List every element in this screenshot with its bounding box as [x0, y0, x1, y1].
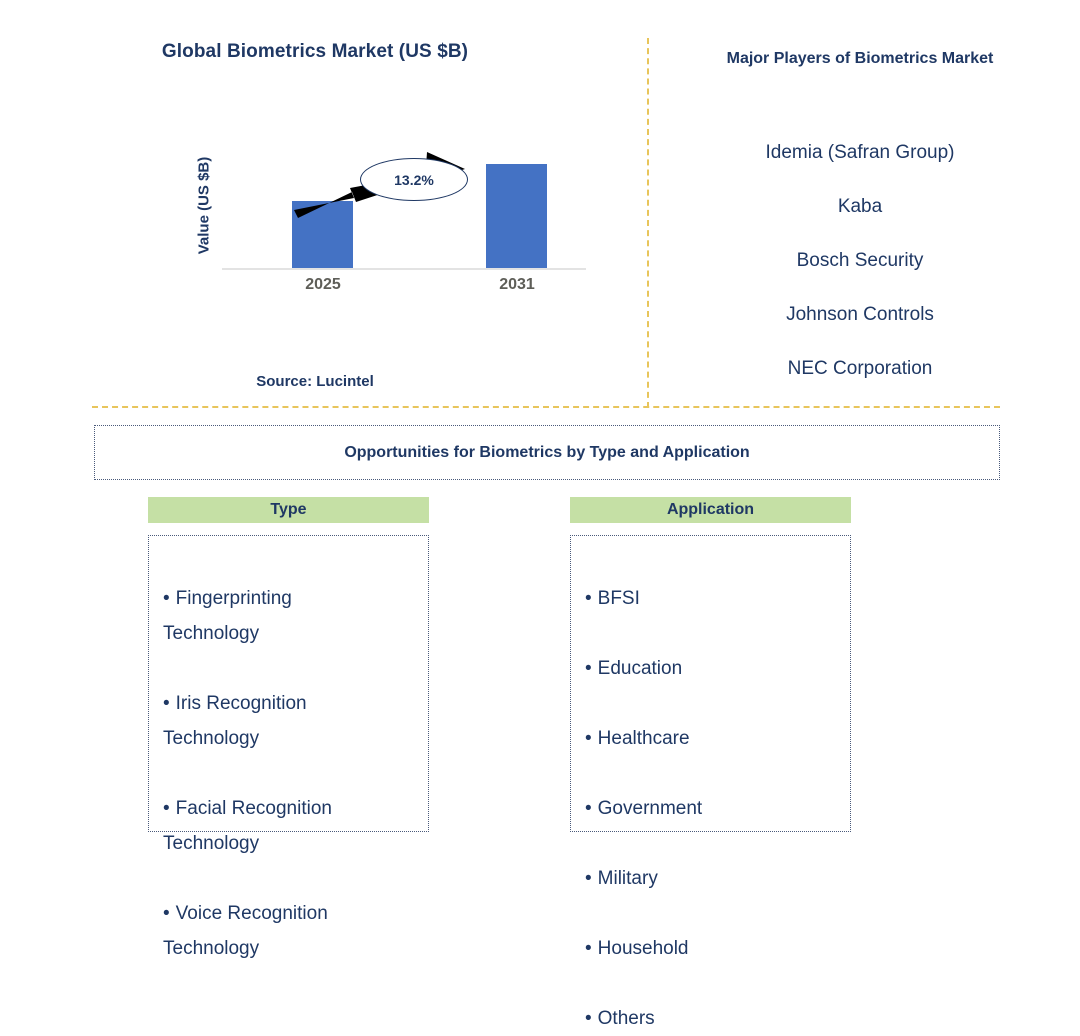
list-item: •Others — [579, 966, 850, 1036]
type-column-heading: Type — [148, 497, 429, 523]
y-axis-label-text: Value (US $B) — [196, 156, 213, 254]
bullet-icon: • — [585, 588, 592, 609]
x-tick-2031: 2031 — [457, 276, 577, 294]
list-item: Bosch Security — [660, 234, 1060, 288]
list-item-label: Others — [598, 1008, 655, 1029]
list-item: •Facial Recognition Technology — [157, 756, 428, 861]
cagr-value: 13.2% — [394, 172, 434, 188]
x-tick-2025: 2025 — [263, 276, 383, 294]
application-column: Application •BFSI •Education •Healthcare… — [570, 497, 851, 832]
type-column: Type •Fingerprinting Technology •Iris Re… — [148, 497, 429, 832]
list-item: Johnson Controls — [660, 288, 1060, 342]
bullet-icon: • — [163, 693, 170, 714]
bullet-icon: • — [585, 938, 592, 959]
list-item-label: BFSI — [598, 588, 640, 609]
list-item-label: Healthcare — [598, 728, 690, 749]
application-column-heading: Application — [570, 497, 851, 523]
list-item: •Voice Recognition Technology — [157, 861, 428, 966]
players-list: Idemia (Safran Group) Kaba Bosch Securit… — [660, 126, 1060, 396]
list-item-label: Education — [598, 658, 683, 679]
list-item: Kaba — [660, 180, 1060, 234]
list-item: •Military — [579, 826, 850, 896]
list-item: •Education — [579, 616, 850, 686]
bullet-icon: • — [163, 798, 170, 819]
bar-chart: Value (US $B) 13.2% 2025 2031 — [196, 140, 586, 300]
list-item-label: Fingerprinting Technology — [163, 588, 292, 644]
bullet-icon: • — [585, 728, 592, 749]
list-item: Idemia (Safran Group) — [660, 126, 1060, 180]
chart-title: Global Biometrics Market (US $B) — [0, 41, 630, 63]
list-item: •Iris Recognition Technology — [157, 651, 428, 756]
players-title: Major Players of Biometrics Market — [700, 46, 1020, 72]
major-players-panel: Major Players of Biometrics Market Idemi… — [660, 0, 1060, 406]
type-column-body: •Fingerprinting Technology •Iris Recogni… — [148, 535, 429, 832]
list-item-label: Military — [598, 868, 658, 889]
cagr-callout: 13.2% — [360, 158, 468, 201]
bullet-icon: • — [585, 1008, 592, 1029]
bullet-icon: • — [163, 903, 170, 924]
bullet-icon: • — [585, 868, 592, 889]
bullet-icon: • — [585, 798, 592, 819]
list-item: NEC Corporation — [660, 342, 1060, 396]
bullet-icon: • — [163, 588, 170, 609]
y-axis-label: Value (US $B) — [192, 140, 216, 270]
list-item-label: Facial Recognition Technology — [163, 798, 332, 854]
plot-area: 13.2% 2025 2031 — [222, 140, 586, 270]
list-item: •Healthcare — [579, 686, 850, 756]
horizontal-divider — [92, 406, 1000, 408]
opportunities-header-text: Opportunities for Biometrics by Type and… — [344, 444, 749, 462]
list-item: •Government — [579, 756, 850, 826]
opportunities-header-box: Opportunities for Biometrics by Type and… — [94, 425, 1000, 480]
chart-panel: Global Biometrics Market (US $B) Value (… — [0, 0, 648, 406]
list-item: •BFSI — [579, 546, 850, 616]
list-item-label: Household — [598, 938, 689, 959]
application-column-body: •BFSI •Education •Healthcare •Government… — [570, 535, 851, 832]
list-item-label: Voice Recognition Technology — [163, 903, 328, 959]
bullet-icon: • — [585, 658, 592, 679]
source-note: Source: Lucintel — [0, 373, 630, 390]
list-item-label: Iris Recognition Technology — [163, 693, 307, 749]
infographic-page: Global Biometrics Market (US $B) Value (… — [0, 0, 1080, 854]
list-item: •Household — [579, 896, 850, 966]
list-item: •Fingerprinting Technology — [157, 546, 428, 651]
vertical-divider — [647, 38, 649, 408]
list-item-label: Government — [598, 798, 703, 819]
